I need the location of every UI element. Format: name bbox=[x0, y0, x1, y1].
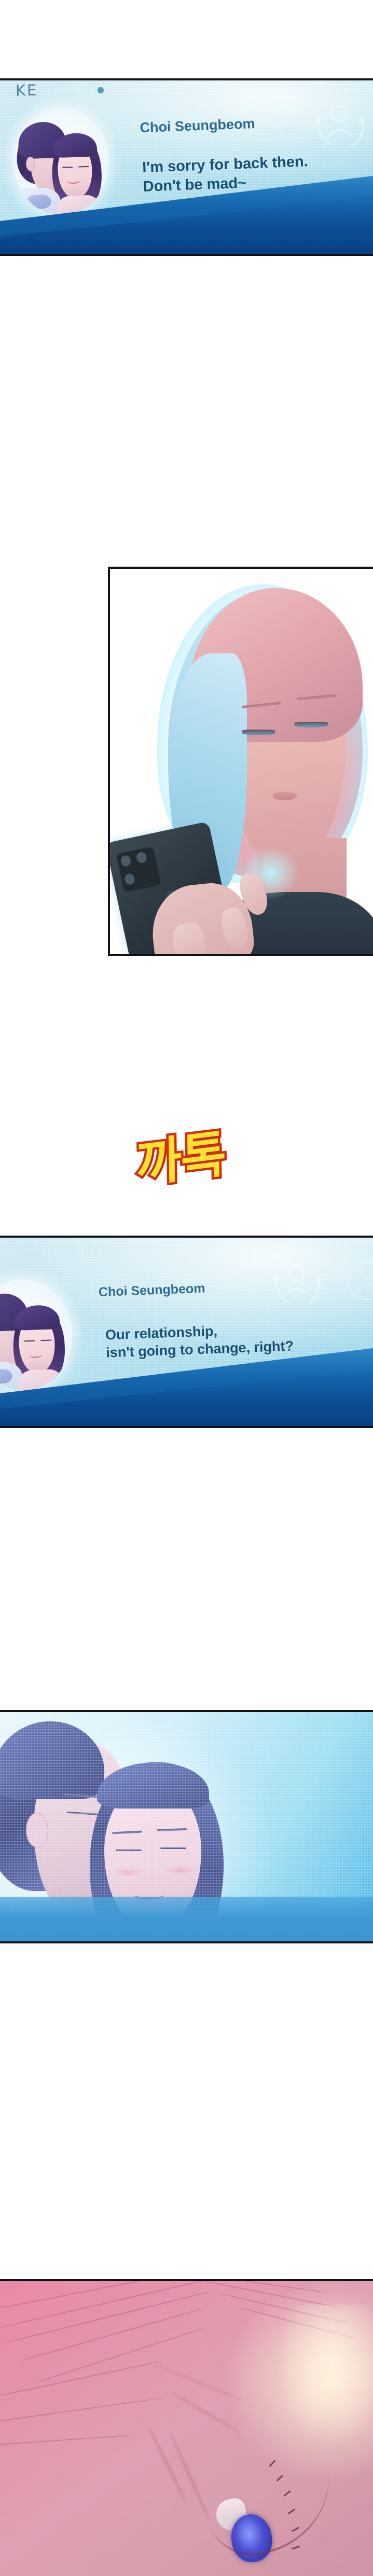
person-refresh-icon bbox=[310, 95, 369, 159]
notification-message-2: Our relationship, isn't going to change,… bbox=[105, 1319, 294, 1361]
avatar bbox=[11, 106, 110, 217]
eye-closeup-illustration bbox=[0, 2281, 373, 2576]
person-badge-icon bbox=[342, 1252, 373, 1312]
screen-dot-marker bbox=[98, 87, 104, 93]
panel-eye-closeup bbox=[0, 2279, 373, 2576]
notification-panel-2: Choi Seungbeom Our relationship, isn't g… bbox=[0, 1236, 373, 1428]
kiss-scene-illustration bbox=[0, 1712, 373, 1941]
avatar bbox=[0, 1278, 74, 1392]
sound-effect-kakao: 까톡 bbox=[136, 1129, 226, 1190]
panel-kiss-scene bbox=[0, 1710, 373, 1943]
panel-woman-with-phone bbox=[108, 567, 373, 956]
woman-phone-illustration bbox=[110, 569, 373, 954]
person-refresh-icon bbox=[268, 1255, 326, 1317]
notification-panel-1: KE Choi bbox=[0, 78, 373, 256]
screen-scribble-text: KE bbox=[16, 81, 38, 100]
